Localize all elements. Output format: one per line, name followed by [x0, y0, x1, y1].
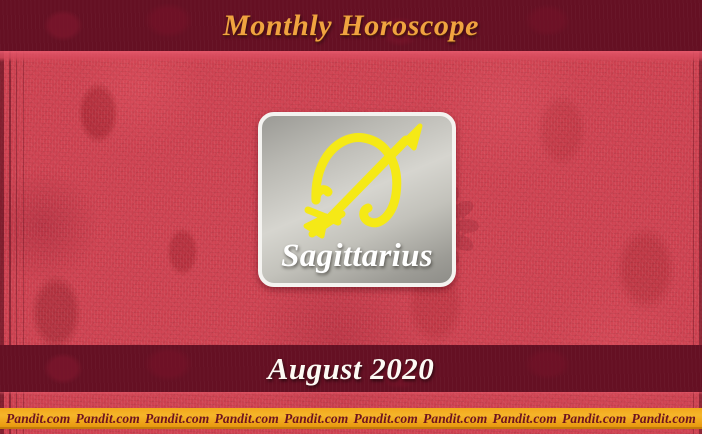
- footer-brand-label: Pandit.com: [145, 411, 209, 427]
- footer-brand-label: Pandit.com: [215, 411, 279, 427]
- footer-brand-label: Pandit.com: [562, 411, 626, 427]
- zodiac-card-inner: Sagittarius: [262, 116, 452, 283]
- footer-brand-label: Pandit.com: [354, 411, 418, 427]
- footer-brand-label: Pandit.com: [423, 411, 487, 427]
- footer-brand-label: Pandit.com: [76, 411, 140, 427]
- zodiac-sign-name: Sagittarius: [262, 238, 452, 275]
- page-title-text: Monthly Horoscope: [223, 9, 479, 43]
- footer-brand-label: Pandit.com: [284, 411, 348, 427]
- zodiac-sign-card: Sagittarius: [258, 112, 456, 287]
- monthly-horoscope-banner: Monthly Horoscope: [0, 0, 702, 434]
- header-accent-stripe: [0, 51, 702, 62]
- footer-brand-label: Pandit.com: [632, 411, 696, 427]
- page-title: Monthly Horoscope: [0, 0, 702, 51]
- footer-ribbon: Pandit.comPandit.comPandit.comPandit.com…: [0, 408, 702, 429]
- sagittarius-bow-and-arrow-icon: [288, 118, 438, 248]
- footer-brand-label: Pandit.com: [493, 411, 557, 427]
- month-label-text: August 2020: [268, 351, 435, 387]
- month-label: August 2020: [0, 345, 702, 392]
- footer-brand-label: Pandit.com: [6, 411, 70, 427]
